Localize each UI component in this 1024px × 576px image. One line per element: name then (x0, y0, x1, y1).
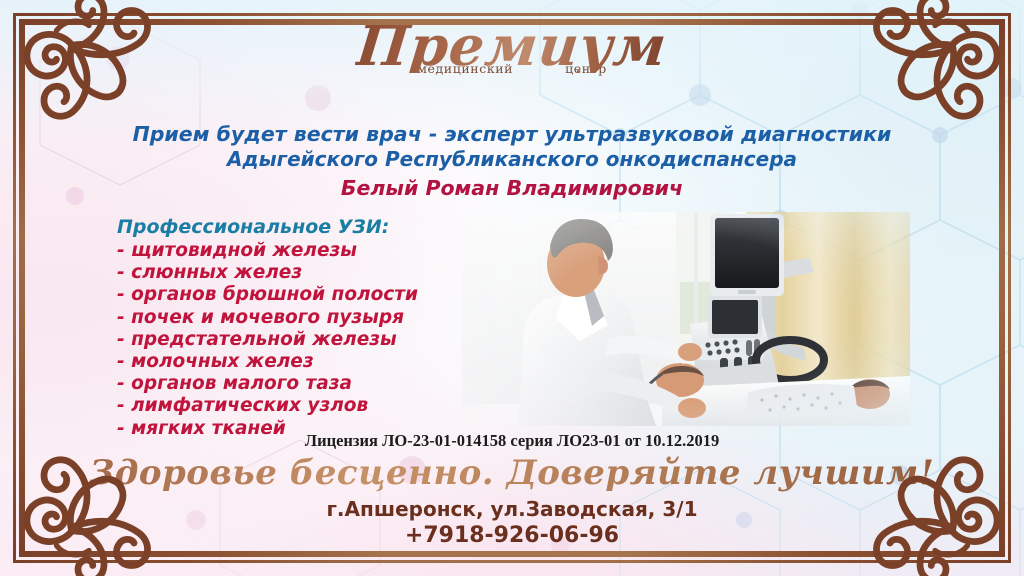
list-item: - щитовидной железы (117, 240, 418, 262)
brand-name: Премиум (354, 18, 670, 73)
license-text: Лицензия ЛО-23-01-014158 серия ЛО23-01 о… (0, 431, 1024, 451)
headline-block: Прием будет вести врач - эксперт ультраз… (60, 122, 964, 200)
headline-line-2: Адыгейского Республиканского онкодиспанс… (60, 147, 964, 172)
ultrasound-photo (462, 212, 910, 426)
list-item: - органов брюшной полости (117, 284, 418, 306)
list-item: - лимфатических узлов (117, 395, 418, 417)
headline-line-1: Прием будет вести врач - эксперт ультраз… (60, 122, 964, 147)
services-list: Профессиональное УЗИ: - щитовидной желез… (117, 216, 418, 440)
list-item: - молочных желез (117, 351, 418, 373)
services-title: Профессиональное УЗИ: (117, 216, 418, 239)
list-item: - почек и мочевого пузыря (117, 307, 418, 329)
list-item: - предстательной железы (117, 329, 418, 351)
slogan-text: Здоровье бесценно. Доверяйте лучшим! (0, 452, 1024, 494)
brand-logo: Премиум медицинский центр (0, 18, 1024, 76)
phone-number[interactable]: +7918-926-06-96 (0, 522, 1024, 549)
address-text: г.Апшеронск, ул.Заводская, 3/1 (0, 497, 1024, 522)
advertisement-poster: Премиум медицинский центр Прием будет ве… (0, 0, 1024, 576)
list-item: - органов малого таза (117, 373, 418, 395)
doctor-name: Белый Роман Владимирович (60, 176, 964, 200)
ultrasound-scene-illustration (462, 212, 910, 426)
list-item: - слюнных желез (117, 262, 418, 284)
